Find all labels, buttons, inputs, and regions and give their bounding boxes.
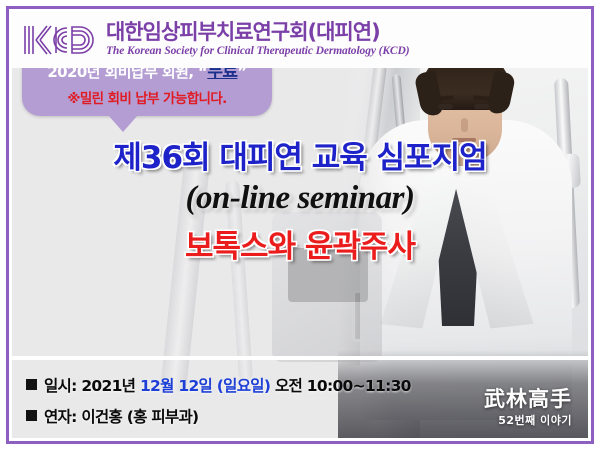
- watermark-subtitle: 52번째 이야기: [484, 412, 572, 428]
- kcd-logo-icon: [20, 20, 98, 60]
- poster-frame: 대한임상피부치료연구회(대피연) The Korean Society for …: [6, 6, 594, 444]
- poster-inner: 대한임상피부치료연구회(대피연) The Korean Society for …: [12, 12, 588, 438]
- speaker-value: 이건홍 (홍 피부과): [81, 408, 198, 426]
- person-nose: [461, 118, 468, 132]
- fee-notice-line2: ※밀린 회비 납부 가능합니다.: [30, 87, 264, 107]
- info-row-date: 일시: 2021년 12월 12일 (일요일) 오전 10:00~11:30: [26, 378, 411, 395]
- info-separator: [12, 356, 588, 360]
- watermark: 武林高手 52번째 이야기: [484, 388, 572, 428]
- person-eye-right: [474, 104, 489, 109]
- date-highlight: 12월 12일 (일요일): [140, 377, 270, 395]
- person-eye-left: [438, 104, 453, 109]
- seminar-subtitle: (on-line seminar): [12, 181, 588, 216]
- seminar-title: 제36회 대피연 교육 심포지엄: [12, 142, 588, 175]
- info-row-speaker: 연자: 이건홍 (홍 피부과): [26, 409, 411, 426]
- date-time: 오전 10:00~11:30: [275, 377, 411, 395]
- seminar-topic: 보톡스와 윤곽주사: [12, 230, 588, 264]
- info-block: 일시: 2021년 12월 12일 (일요일) 오전 10:00~11:30 연…: [26, 378, 411, 426]
- title-block: 제36회 대피연 교육 심포지엄 (on-line seminar) 보톡스와 …: [12, 142, 588, 264]
- speaker-label: 연자:: [44, 408, 77, 426]
- watermark-title: 武林高手: [484, 388, 572, 409]
- bullet-square-icon: [26, 410, 37, 421]
- bullet-square-icon: [26, 379, 37, 390]
- date-year: 2021년: [81, 377, 135, 395]
- date-label: 일시:: [44, 377, 77, 395]
- org-name-english: The Korean Society for Clinical Therapeu…: [106, 46, 409, 58]
- org-name-korean: 대한임상피부치료연구회(대피연): [106, 22, 409, 43]
- seminar-poster: 대한임상피부치료연구회(대피연) The Korean Society for …: [0, 0, 600, 450]
- poster-header: 대한임상피부치료연구회(대피연) The Korean Society for …: [12, 12, 588, 68]
